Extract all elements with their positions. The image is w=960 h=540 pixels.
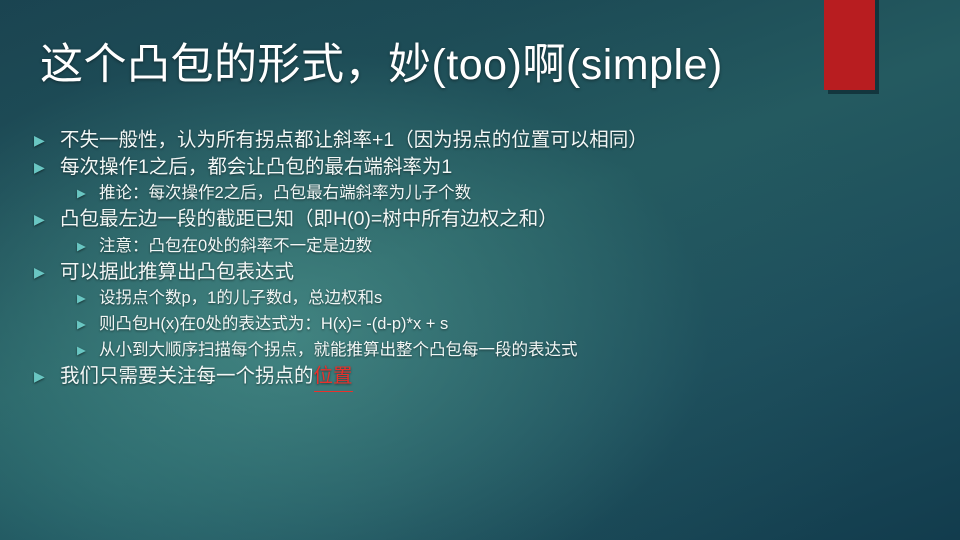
- bullet-line: ▶可以据此推算出凸包表达式: [34, 260, 934, 287]
- bullet-line: ▶不失一般性，认为所有拐点都让斜率+1（因为拐点的位置可以相同）: [34, 128, 934, 155]
- bullet-text: 凸包最左边一段的截距已知（即H(0)=树中所有边权之和）: [60, 207, 558, 233]
- bullet-triangle-icon: ▶: [77, 339, 99, 363]
- bullet-text: 推论：每次操作2之后，凸包最右端斜率为儿子个数: [99, 181, 471, 205]
- bullet-text: 则凸包H(x)在0处的表达式为：H(x)= -(d-p)*x + s: [99, 312, 448, 336]
- bullet-line: ▶从小到大顺序扫描每个拐点，就能推算出整个凸包每一段的表达式: [34, 338, 934, 364]
- bullet-line: ▶注意：凸包在0处的斜率不一定是边数: [34, 234, 934, 260]
- bullet-line: ▶推论：每次操作2之后，凸包最右端斜率为儿子个数: [34, 181, 934, 207]
- bullet-triangle-icon: ▶: [77, 287, 99, 311]
- bullet-triangle-icon: ▶: [34, 260, 60, 286]
- slide-body-list: ▶不失一般性，认为所有拐点都让斜率+1（因为拐点的位置可以相同）▶每次操作1之后…: [34, 128, 934, 392]
- bullet-text: 可以据此推算出凸包表达式: [60, 260, 294, 286]
- bullet-line: ▶则凸包H(x)在0处的表达式为：H(x)= -(d-p)*x + s: [34, 312, 934, 338]
- bullet-triangle-icon: ▶: [77, 235, 99, 259]
- bullet-triangle-icon: ▶: [34, 207, 60, 233]
- bullet-triangle-icon: ▶: [34, 155, 60, 181]
- highlighted-keyword: 位置: [314, 364, 353, 392]
- bullet-line: ▶我们只需要关注每一个拐点的位置: [34, 364, 934, 392]
- slide-title: 这个凸包的形式，妙(too)啊(simple): [40, 40, 920, 91]
- bullet-text: 不失一般性，认为所有拐点都让斜率+1（因为拐点的位置可以相同）: [60, 128, 648, 154]
- slide-canvas: 这个凸包的形式，妙(too)啊(simple) ▶不失一般性，认为所有拐点都让斜…: [0, 0, 960, 540]
- bullet-triangle-icon: ▶: [77, 313, 99, 337]
- bullet-text: 从小到大顺序扫描每个拐点，就能推算出整个凸包每一段的表达式: [99, 338, 578, 362]
- bullet-text: 每次操作1之后，都会让凸包的最右端斜率为1: [60, 155, 452, 181]
- bullet-triangle-icon: ▶: [34, 128, 60, 154]
- bullet-text: 设拐点个数p，1的儿子数d，总边权和s: [99, 286, 382, 310]
- bullet-line: ▶凸包最左边一段的截距已知（即H(0)=树中所有边权之和）: [34, 207, 934, 234]
- bullet-text: 注意：凸包在0处的斜率不一定是边数: [99, 234, 372, 258]
- bullet-triangle-icon: ▶: [34, 364, 60, 390]
- bullet-text: 我们只需要关注每一个拐点的: [60, 364, 314, 390]
- bullet-line: ▶设拐点个数p，1的儿子数d，总边权和s: [34, 286, 934, 312]
- bullet-line: ▶每次操作1之后，都会让凸包的最右端斜率为1: [34, 155, 934, 182]
- bullet-triangle-icon: ▶: [77, 182, 99, 206]
